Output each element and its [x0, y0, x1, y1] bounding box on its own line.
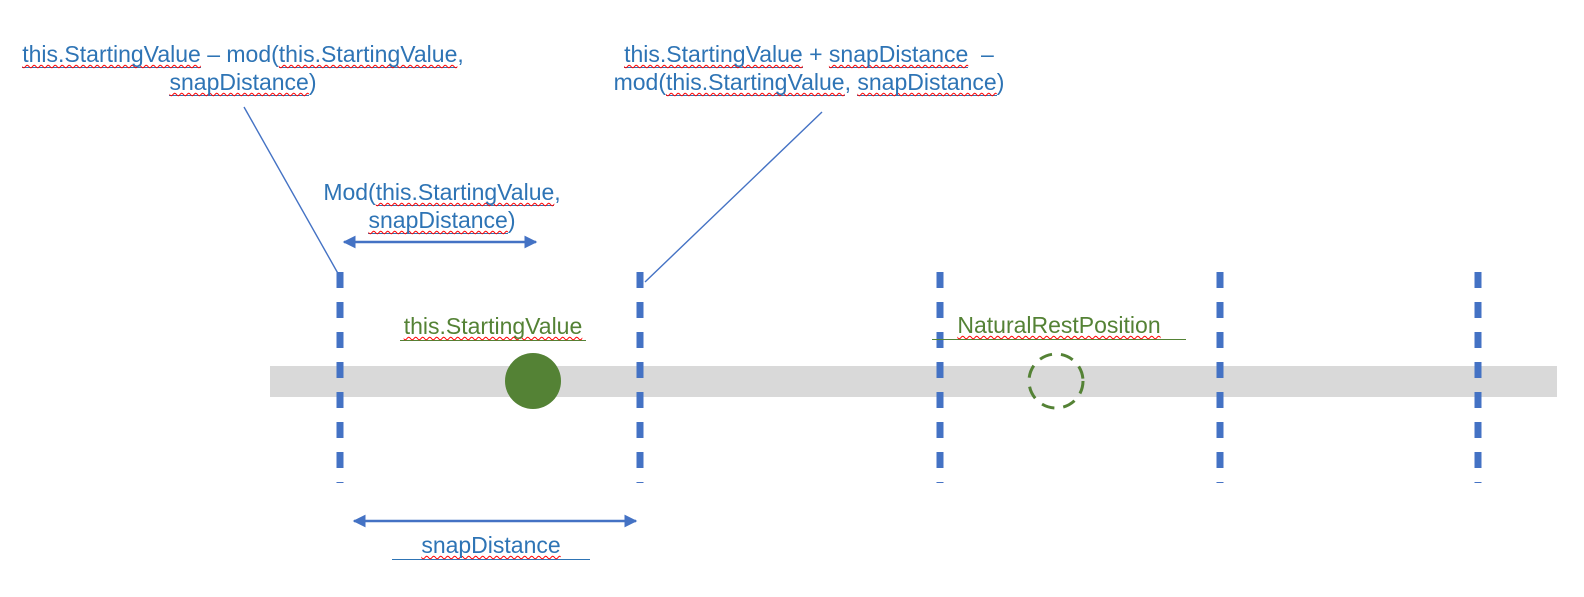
right-leader-line — [645, 112, 822, 282]
mod-label-close-paren: ) — [508, 207, 516, 233]
left-expr-operator-minus-mod: – mod( — [201, 41, 279, 67]
right-expr-token-snap-distance: snapDistance — [829, 41, 968, 68]
left-expr-token-snap-distance: snapDistance — [169, 69, 308, 96]
right-expr-token-starting-value-2: this.StartingValue — [666, 69, 845, 96]
mod-label-comma: , — [554, 179, 560, 205]
natural-rest-position-label: NaturalRestPosition — [932, 311, 1186, 340]
right-expr-close-paren: ) — [997, 69, 1005, 95]
starting-value-marker[interactable] — [505, 353, 561, 409]
left-expr-close-paren: ) — [309, 69, 317, 95]
mod-measure-label: Mod(this.StartingValue,snapDistance) — [306, 178, 578, 234]
mod-label-open: Mod( — [323, 179, 375, 205]
slider-track — [270, 366, 1557, 397]
left-expr-token-starting-value-2: this.StartingValue — [279, 41, 458, 68]
left-boundary-expression-label: this.StartingValue – mod(this.StartingVa… — [6, 40, 480, 96]
mod-label-token-starting-value: this.StartingValue — [376, 179, 555, 206]
right-expr-mod-open: mod( — [614, 69, 666, 95]
right-expr-comma: , — [845, 69, 858, 95]
snap-distance-label: snapDistance — [392, 531, 590, 560]
diagram-canvas: this.StartingValue – mod(this.StartingVa… — [0, 0, 1584, 597]
right-expr-operator-minus: – — [968, 41, 994, 67]
mod-label-token-snap-distance: snapDistance — [368, 207, 507, 234]
left-expr-token-starting-value: this.StartingValue — [22, 41, 201, 68]
starting-value-label: this.StartingValue — [400, 312, 586, 341]
right-expr-token-starting-value: this.StartingValue — [624, 41, 803, 68]
left-expr-comma: , — [457, 41, 463, 67]
right-boundary-expression-label: this.StartingValue + snapDistance –mod(t… — [594, 40, 1024, 96]
right-expr-operator-plus: + — [803, 41, 829, 67]
right-expr-token-snap-distance-2: snapDistance — [857, 69, 996, 96]
